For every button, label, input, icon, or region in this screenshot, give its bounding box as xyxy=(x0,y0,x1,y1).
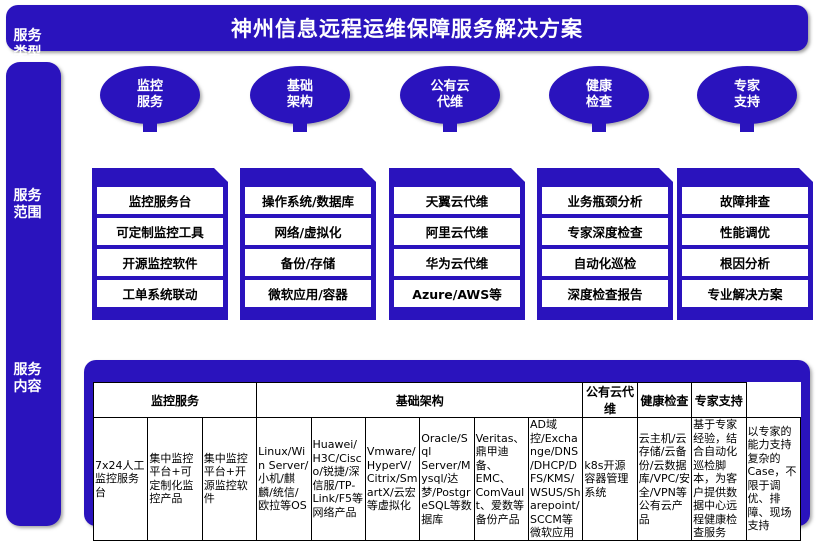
scope-card-public-cloud: 天翼云代维 阿里云代维 华为云代维 Azure/AWS等 xyxy=(389,168,525,320)
diagram-canvas: 神州信息远程运维保障服务解决方案 服务 类型 服务 范围 服务 内容 监控 服务… xyxy=(0,0,816,533)
page-title-banner: 神州信息远程运维保障服务解决方案 xyxy=(6,5,808,51)
service-type-health-check-line2: 检查 xyxy=(586,95,612,111)
service-type-ellipse-health-check[interactable]: 健康 检查 xyxy=(549,66,649,124)
scope-item[interactable]: 阿里云代维 xyxy=(394,218,520,245)
scope-card-monitoring: 监控服务台 可定制监控工具 开源监控软件 工单系统联动 xyxy=(92,168,228,320)
scope-item[interactable]: 操作系统/数据库 xyxy=(245,187,371,214)
table-header-row: 监控服务 基础架构 公有云代维 健康检查 专家支持 xyxy=(94,383,801,418)
scope-item[interactable]: 监控服务台 xyxy=(97,187,223,214)
service-type-ellipse-public-cloud-text: 公有云 代维 xyxy=(430,79,469,111)
scope-item[interactable]: 网络/虚拟化 xyxy=(245,218,371,245)
service-type-ellipse-expert-support[interactable]: 专家 支持 xyxy=(697,66,797,124)
table-cell[interactable]: Huawei/H3C/Cisco/锐捷/深信服/TP-Link/F5等网络产品 xyxy=(311,418,365,541)
scope-card-health-check: 业务瓶颈分析 专家深度检查 自动化巡检 深度检查报告 xyxy=(537,168,673,320)
scope-item[interactable]: 微软应用/容器 xyxy=(245,280,371,307)
service-type-ellipse-public-cloud[interactable]: 公有云 代维 xyxy=(400,66,500,124)
service-type-ellipse-monitoring[interactable]: 监控 服务 xyxy=(100,66,200,124)
rail-label-service-scope-line2: 范围 xyxy=(0,205,55,222)
scope-item[interactable]: 自动化巡检 xyxy=(542,249,668,276)
scope-item[interactable]: 天翼云代维 xyxy=(394,187,520,214)
scope-card-monitoring-items: 监控服务台 可定制监控工具 开源监控软件 工单系统联动 xyxy=(97,187,223,307)
service-type-public-cloud-line1: 公有云 xyxy=(430,79,469,95)
connector-stub-expert-support xyxy=(740,123,754,132)
table-cell[interactable]: 集中监控平台+开源监控软件 xyxy=(202,418,256,541)
table-cell[interactable]: Linux/Win Server/小机/麒麟/统信/欧拉等OS xyxy=(257,418,311,541)
table-group-header-infrastructure: 基础架构 xyxy=(257,383,583,418)
table-cell[interactable]: 集中监控平台+可定制化监控产品 xyxy=(148,418,202,541)
table-group-header-public-cloud: 公有云代维 xyxy=(583,383,637,418)
service-type-public-cloud-line2: 代维 xyxy=(430,95,469,111)
scope-item[interactable]: 可定制监控工具 xyxy=(97,218,223,245)
scope-card-infrastructure: 操作系统/数据库 网络/虚拟化 备份/存储 微软应用/容器 xyxy=(240,168,376,320)
table-row: 7x24人工监控服务台 集中监控平台+可定制化监控产品 集中监控平台+开源监控软… xyxy=(94,418,801,541)
scope-item[interactable]: 专业解决方案 xyxy=(682,280,808,307)
table-cell[interactable]: 以专家的能力支持复杂的Case，不限于调优、排障、现场支持 xyxy=(746,418,801,541)
service-type-monitoring-line1: 监控 xyxy=(137,79,163,95)
connector-stub-public-cloud xyxy=(443,123,457,132)
table-cell[interactable]: AD域控/Exchange/DNS/DHCP/DFS/KMS/WSUS/Shar… xyxy=(529,418,583,541)
table-group-header-monitoring: 监控服务 xyxy=(94,383,257,418)
service-type-ellipse-expert-support-text: 专家 支持 xyxy=(734,79,760,111)
service-type-ellipse-infrastructure[interactable]: 基础 架构 xyxy=(250,66,350,124)
rail-label-service-type-line1: 服务 xyxy=(0,28,55,45)
service-type-infrastructure-line2: 架构 xyxy=(287,95,313,111)
rail-label-service-scope: 服务 范围 xyxy=(0,188,55,222)
connector-stub-health-check xyxy=(592,123,606,132)
scope-item[interactable]: Azure/AWS等 xyxy=(394,280,520,307)
service-type-infrastructure-line1: 基础 xyxy=(287,79,313,95)
scope-item[interactable]: 开源监控软件 xyxy=(97,249,223,276)
scope-item[interactable]: 业务瓶颈分析 xyxy=(542,187,668,214)
scope-item[interactable]: 深度检查报告 xyxy=(542,280,668,307)
service-type-ellipse-infrastructure-text: 基础 架构 xyxy=(287,79,313,111)
service-type-ellipse-health-check-text: 健康 检查 xyxy=(586,79,612,111)
scope-card-expert-support-items: 故障排查 性能调优 根因分析 专业解决方案 xyxy=(682,187,808,307)
table-group-header-expert-support: 专家支持 xyxy=(692,383,746,418)
table-cell[interactable]: Oracle/Sql Server/Mysql/达梦/PostgreSQL等数据… xyxy=(420,418,474,541)
rail-label-service-scope-line1: 服务 xyxy=(0,188,55,205)
service-type-health-check-line1: 健康 xyxy=(586,79,612,95)
table-cell[interactable]: 云主机/云存储/云备份/云数据库/VPC/安全/VPN等公有云产品 xyxy=(637,418,691,541)
left-rail xyxy=(6,62,61,526)
scope-item[interactable]: 根因分析 xyxy=(682,249,808,276)
scope-item[interactable]: 专家深度检查 xyxy=(542,218,668,245)
scope-card-public-cloud-items: 天翼云代维 阿里云代维 华为云代维 Azure/AWS等 xyxy=(394,187,520,307)
connector-stub-infrastructure xyxy=(293,123,307,132)
table-cell[interactable]: Veritas、鼎甲迪备、EMC、ComVault、爱数等备份产品 xyxy=(474,418,528,541)
scope-item[interactable]: 华为云代维 xyxy=(394,249,520,276)
rail-label-service-type-line2: 类型 xyxy=(0,45,55,62)
rail-label-service-content-line2: 内容 xyxy=(0,379,55,396)
rail-label-service-type: 服务 类型 xyxy=(0,28,55,62)
service-type-monitoring-line2: 服务 xyxy=(137,95,163,111)
table-cell[interactable]: Vmware/HyperV/Citrix/SmartX/云宏等虚拟化 xyxy=(365,418,419,541)
scope-card-expert-support: 故障排查 性能调优 根因分析 专业解决方案 xyxy=(677,168,813,320)
scope-item[interactable]: 故障排查 xyxy=(682,187,808,214)
rail-label-service-content-line1: 服务 xyxy=(0,362,55,379)
service-content-table: 监控服务 基础架构 公有云代维 健康检查 专家支持 7x24人工监控服务台 集中… xyxy=(93,382,801,541)
scope-item[interactable]: 备份/存储 xyxy=(245,249,371,276)
table-group-header-health-check: 健康检查 xyxy=(637,383,691,418)
service-type-expert-support-line1: 专家 xyxy=(734,79,760,95)
table-cell[interactable]: k8s开源容器管理系统 xyxy=(583,418,637,541)
rail-label-service-content: 服务 内容 xyxy=(0,362,55,396)
table-cell[interactable]: 7x24人工监控服务台 xyxy=(94,418,148,541)
scope-item[interactable]: 工单系统联动 xyxy=(97,280,223,307)
service-type-ellipse-monitoring-text: 监控 服务 xyxy=(137,79,163,111)
scope-card-health-check-items: 业务瓶颈分析 专家深度检查 自动化巡检 深度检查报告 xyxy=(542,187,668,307)
page-title: 神州信息远程运维保障服务解决方案 xyxy=(231,13,583,43)
table-cell[interactable]: 基于专家经验，结合自动化巡检脚本，为客户提供数据中心远程健康检查服务 xyxy=(692,418,746,541)
scope-item[interactable]: 性能调优 xyxy=(682,218,808,245)
scope-card-infrastructure-items: 操作系统/数据库 网络/虚拟化 备份/存储 微软应用/容器 xyxy=(245,187,371,307)
service-type-expert-support-line2: 支持 xyxy=(734,95,760,111)
connector-stub-monitoring xyxy=(143,123,157,132)
